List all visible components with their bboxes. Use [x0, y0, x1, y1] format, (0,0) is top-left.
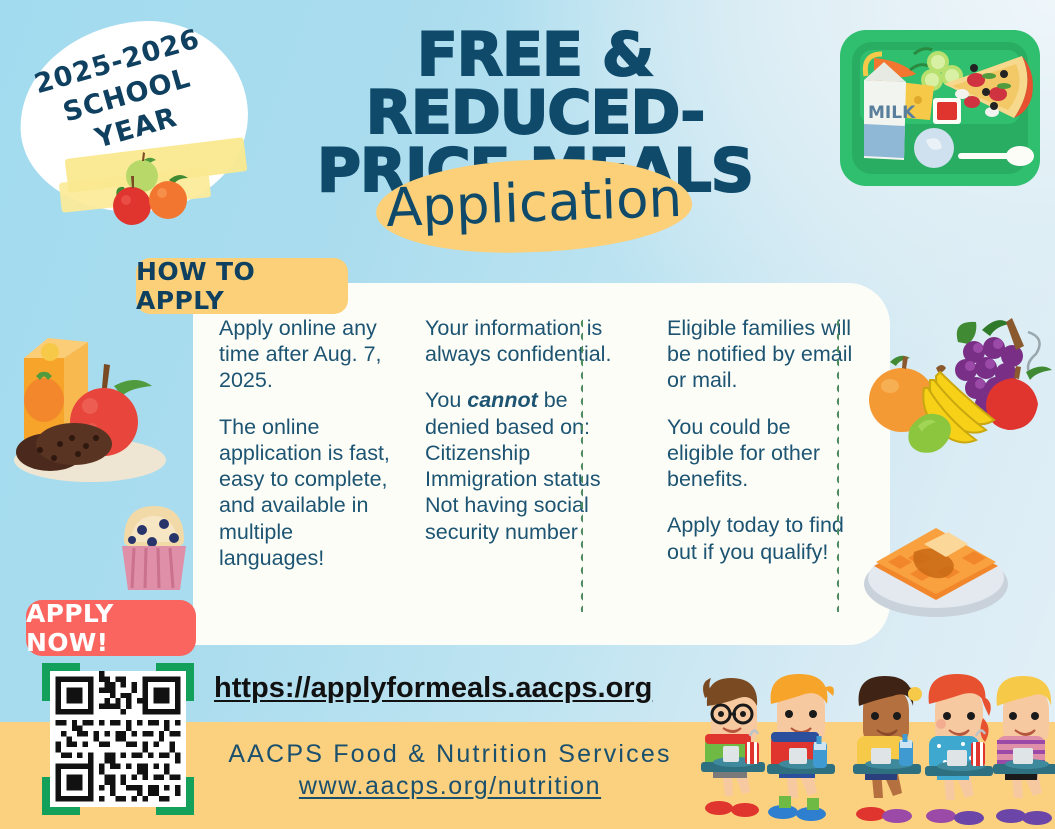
how-to-apply-label: How to Apply [136, 257, 348, 315]
col3-para1: Eligible families will be notified by em… [667, 315, 856, 394]
apply-url-link[interactable]: https://applyformeals.aacps.org [214, 672, 684, 705]
fruit-trio-illustration [98, 140, 248, 230]
nutrition-website-link[interactable]: www.aacps.org/nutrition [200, 772, 700, 801]
milk-label: MILK [868, 103, 916, 123]
qr-corner-bottom-left [42, 777, 80, 815]
column-divider-2 [835, 317, 839, 612]
poster-canvas: 2025-2026 School Year Free & Reduced- Pr… [0, 0, 1055, 829]
apply-now-badge[interactable]: Apply Now! [26, 600, 196, 656]
col3-para2: You could be eligible for other benefits… [667, 414, 856, 493]
column-divider-1 [579, 317, 583, 612]
col2-para2-prefix: You [425, 388, 467, 412]
col3-para3: Apply today to find out if you qualify! [667, 512, 856, 564]
column-confidential: Your information is always confidential.… [393, 315, 631, 645]
fruits-illustration [862, 300, 1055, 460]
waffle-illustration [856, 518, 1016, 623]
qr-corner-bottom-right [156, 777, 194, 815]
title-script-word: Application [375, 163, 693, 246]
col2-para1: Your information is always confidential. [425, 315, 631, 367]
lunch-tray-illustration: MILK [826, 14, 1052, 204]
col1-para1: Apply online any time after Aug. 7, 2025… [219, 315, 393, 394]
col2-emphasis: cannot [467, 388, 537, 412]
how-to-apply-badge: How to Apply [136, 258, 348, 314]
title-line1: Free & Reduced- [255, 26, 815, 142]
how-to-apply-card: Apply online any time after Aug. 7, 2025… [193, 283, 890, 645]
col1-para2: The online application is fast, easy to … [219, 414, 393, 571]
qr-corner-top-right [156, 663, 194, 701]
col2-para2: You cannot be denied based on: Citizensh… [425, 387, 631, 544]
children-illustration [683, 648, 1055, 829]
column-apply-online: Apply online any time after Aug. 7, 2025… [193, 315, 393, 645]
muffin-illustration [108, 490, 200, 600]
qr-corner-frame [42, 663, 194, 815]
qr-corner-top-left [42, 663, 80, 701]
apply-now-label: Apply Now! [26, 599, 196, 657]
breakfast-illustration [2, 330, 180, 490]
column-eligible: Eligible families will be notified by em… [631, 315, 856, 645]
qr-code-block[interactable] [42, 663, 194, 815]
organization-name: AACPS Food & Nutrition Services [200, 740, 700, 769]
